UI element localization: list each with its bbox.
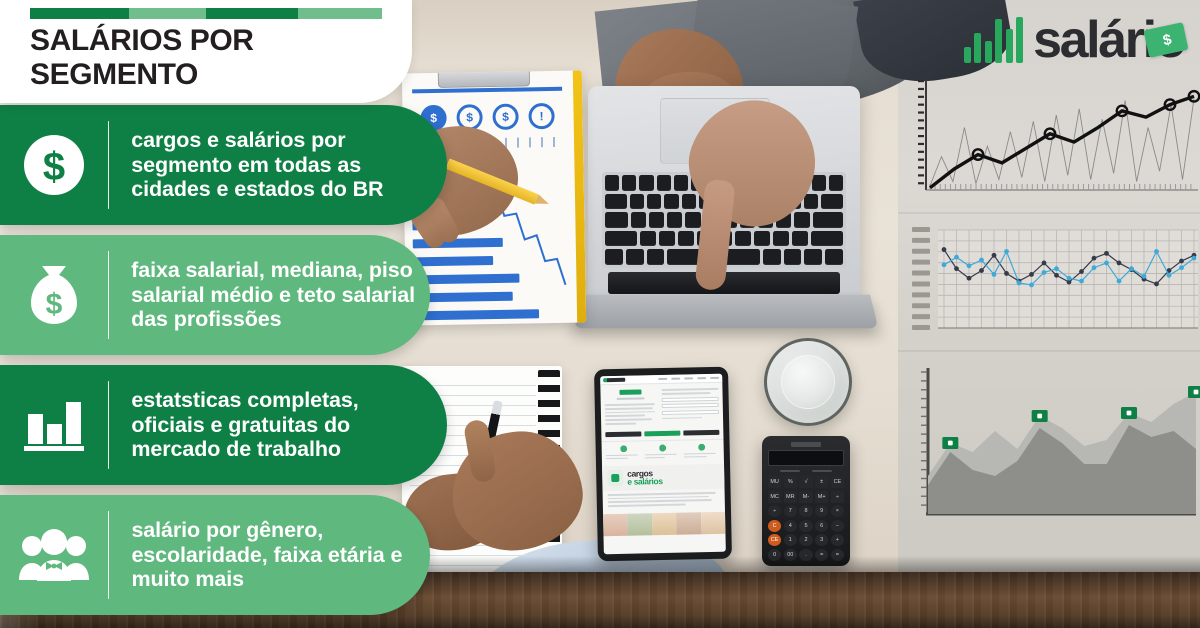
feature-item-1[interactable]: $cargos e salários por segmento em todas…	[0, 105, 447, 225]
report-circle-icon: !	[528, 103, 554, 129]
tablet-feature-cards	[602, 439, 724, 466]
tablet-hero-subtitle	[617, 397, 645, 400]
feature-label: estatsticas completas, oficiais e gratui…	[131, 388, 447, 463]
calculator-key[interactable]: 5	[799, 520, 812, 532]
calculator-key[interactable]: 7	[784, 505, 797, 517]
feature-item-4[interactable]: salário por gênero, escolaridade, faixa …	[0, 495, 430, 615]
tablet-screen: cargos e salários	[600, 374, 726, 555]
calculator-key[interactable]: MC	[768, 491, 781, 503]
tablet-button-dark	[605, 431, 641, 437]
feature-list: $cargos e salários por segmento em todas…	[0, 105, 460, 625]
tablet-nav-links	[658, 377, 719, 381]
paper-divider-2	[898, 350, 1200, 352]
svg-text:$: $	[43, 145, 65, 189]
page-title: SALÁRIOS POR SEGMENTO	[30, 24, 394, 92]
drinking-glass	[764, 338, 852, 426]
calculator-key[interactable]: %	[784, 476, 797, 488]
money-bag-icon: $	[0, 262, 108, 328]
calculator-key[interactable]: CE	[831, 476, 844, 488]
bar-chart-icon	[964, 17, 1024, 63]
calculator-display	[768, 450, 844, 466]
tablet-button-dark	[683, 430, 719, 436]
tablet-hero-section	[600, 383, 723, 432]
people-group-icon	[0, 528, 108, 582]
tablet-search-form	[661, 388, 719, 426]
feature-label: salário por gênero, escolaridade, faixa …	[131, 518, 430, 593]
trend-line-chart	[908, 74, 1200, 206]
brand-name: salário $	[1033, 14, 1184, 66]
feature-divider	[108, 511, 109, 599]
calculator-key[interactable]: 2	[799, 534, 812, 546]
calculator-key[interactable]: ±	[815, 476, 828, 488]
stacked-area-chart	[908, 362, 1200, 560]
dual-series-grid-chart	[908, 224, 1200, 342]
calculator-keypad[interactable]: MU%√±CEMCMRM-M+÷÷789×C456−CE123+000.==	[768, 476, 844, 561]
feature-divider	[108, 121, 109, 209]
calculator-key[interactable]: C	[768, 520, 781, 532]
title-stripe-segment	[129, 8, 206, 19]
calculator-key[interactable]: ÷	[768, 505, 781, 517]
tablet-device: cargos e salários	[594, 367, 732, 562]
feature-divider	[108, 381, 109, 469]
laptop-screen-back	[574, 295, 878, 329]
title-card: SALÁRIOS POR SEGMENTO	[0, 0, 412, 103]
tablet-promo-banner: cargos e salários	[602, 463, 725, 491]
calculator-key[interactable]: MU	[768, 476, 781, 488]
calculator-key[interactable]: CE	[768, 534, 781, 546]
title-stripe-segment	[206, 8, 298, 19]
paper-divider-1	[898, 212, 1200, 214]
feature-item-3[interactable]: estatsticas completas, oficiais e gratui…	[0, 365, 447, 485]
dollar-circle-icon: $	[0, 132, 108, 198]
calculator-key[interactable]: ×	[831, 505, 844, 517]
calculator-key[interactable]: M-	[799, 491, 812, 503]
feature-label: faixa salarial, mediana, piso salarial m…	[131, 258, 430, 333]
tablet-promo-line2: e salários	[627, 477, 662, 486]
feature-item-2[interactable]: $faixa salarial, mediana, piso salarial …	[0, 235, 430, 355]
tablet-article-text	[603, 489, 725, 513]
tablet-promo-icon	[607, 470, 623, 486]
calculator-key[interactable]: 4	[784, 520, 797, 532]
calculator-sub-buttons	[768, 470, 844, 472]
feature-divider	[108, 251, 109, 339]
calculator-key[interactable]: MR	[784, 491, 797, 503]
feature-label: cargos e salários por segmento em todas …	[131, 128, 447, 203]
report-circle-icon: $	[492, 104, 518, 130]
calculator-key[interactable]: √	[799, 476, 812, 488]
calculator-key[interactable]: 3	[815, 534, 828, 546]
title-stripe-segment	[298, 8, 382, 19]
tablet-photo-strip	[603, 512, 725, 537]
calculator-key[interactable]: 6	[815, 520, 828, 532]
calculator-key[interactable]: 1	[784, 534, 797, 546]
svg-text:$: $	[46, 288, 63, 321]
calculator-key[interactable]: −	[831, 520, 844, 532]
tablet-button-green	[644, 430, 680, 436]
calculator-key[interactable]: 9	[815, 505, 828, 517]
calculator-device: MU%√±CEMCMRM-M+÷÷789×C456−CE123+000.==	[762, 436, 850, 566]
bar-chart-icon	[0, 394, 108, 456]
tablet-hero-title	[619, 389, 641, 394]
clipboard-clip	[438, 70, 530, 88]
brand-logo[interactable]: salário $	[964, 14, 1184, 66]
calculator-key[interactable]: 8	[799, 505, 812, 517]
calculator-solar-panel	[791, 442, 821, 447]
title-stripe-bar	[30, 8, 382, 19]
report-header-bar	[412, 87, 562, 94]
calculator-key[interactable]: ÷	[831, 491, 844, 503]
tablet-site-logo	[603, 378, 625, 382]
poster-canvas: $ $ $ !	[0, 0, 1200, 628]
calculator-key[interactable]: M+	[815, 491, 828, 503]
calculator-key[interactable]: +	[831, 534, 844, 546]
title-stripe-segment	[30, 8, 129, 19]
